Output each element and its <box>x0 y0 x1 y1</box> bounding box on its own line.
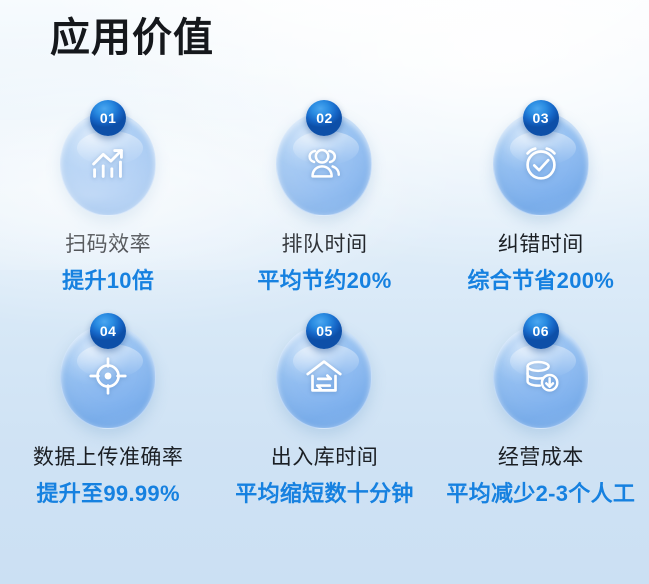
card-number-badge-03: 03 <box>523 100 559 136</box>
database-download-icon <box>518 353 564 399</box>
orb-wrapper-06: 06 <box>490 313 592 431</box>
value-card-05[interactable]: 05 出入库时间 平均缩短数十分钟 <box>216 313 432 508</box>
value-card-04[interactable]: 04 数据上传准确率 提升至99.99% <box>0 313 216 508</box>
users-group-icon <box>301 140 347 186</box>
orb-wrapper-03: 03 <box>490 100 592 218</box>
card-number-badge-02: 02 <box>306 100 342 136</box>
card-label-01: 扫码效率 <box>65 228 151 258</box>
value-card-01[interactable]: 01 扫码效率 提升10倍 <box>0 100 216 295</box>
card-value-03: 综合节省200% <box>467 263 614 295</box>
application-value-infographic: 应用价值 <box>0 0 649 584</box>
card-value-06: 平均减少2-3个人工 <box>446 476 635 508</box>
value-card-03[interactable]: 03 纠错时间 综合节省200% <box>433 100 649 295</box>
orb-wrapper-05: 05 <box>273 313 375 431</box>
card-number-badge-06: 06 <box>523 313 559 349</box>
card-label-02: 排队时间 <box>281 228 367 258</box>
card-value-05: 平均缩短数十分钟 <box>235 476 413 508</box>
orb-wrapper-01: 01 <box>57 100 159 218</box>
alarm-clock-check-icon <box>518 140 564 186</box>
warehouse-inout-icon <box>301 353 347 399</box>
card-label-03: 纠错时间 <box>498 228 584 258</box>
card-number-badge-05: 05 <box>306 313 342 349</box>
page-title: 应用价值 <box>50 14 214 62</box>
card-label-04: 数据上传准确率 <box>33 441 184 471</box>
card-value-01: 提升10倍 <box>62 263 154 295</box>
target-crosshair-icon <box>85 353 131 399</box>
card-label-06: 经营成本 <box>498 441 584 471</box>
card-label-05: 出入库时间 <box>271 441 379 471</box>
orb-wrapper-04: 04 <box>57 313 159 431</box>
value-cards-grid: 01 扫码效率 提升10倍 <box>0 100 649 508</box>
bar-chart-growth-icon <box>85 140 131 186</box>
card-value-02: 平均节约20% <box>257 263 391 295</box>
card-number-badge-04: 04 <box>90 313 126 349</box>
value-cards-row-1: 01 扫码效率 提升10倍 <box>0 100 649 295</box>
value-cards-row-2: 04 数据上传准确率 提升至99.99% <box>0 313 649 508</box>
orb-wrapper-02: 02 <box>273 100 375 218</box>
value-card-06[interactable]: 06 经营成本 平均减少2-3个人工 <box>433 313 649 508</box>
card-value-04: 提升至99.99% <box>37 476 180 508</box>
card-number-badge-01: 01 <box>90 100 126 136</box>
value-card-02[interactable]: 02 排队时间 平均节约20% <box>216 100 432 295</box>
